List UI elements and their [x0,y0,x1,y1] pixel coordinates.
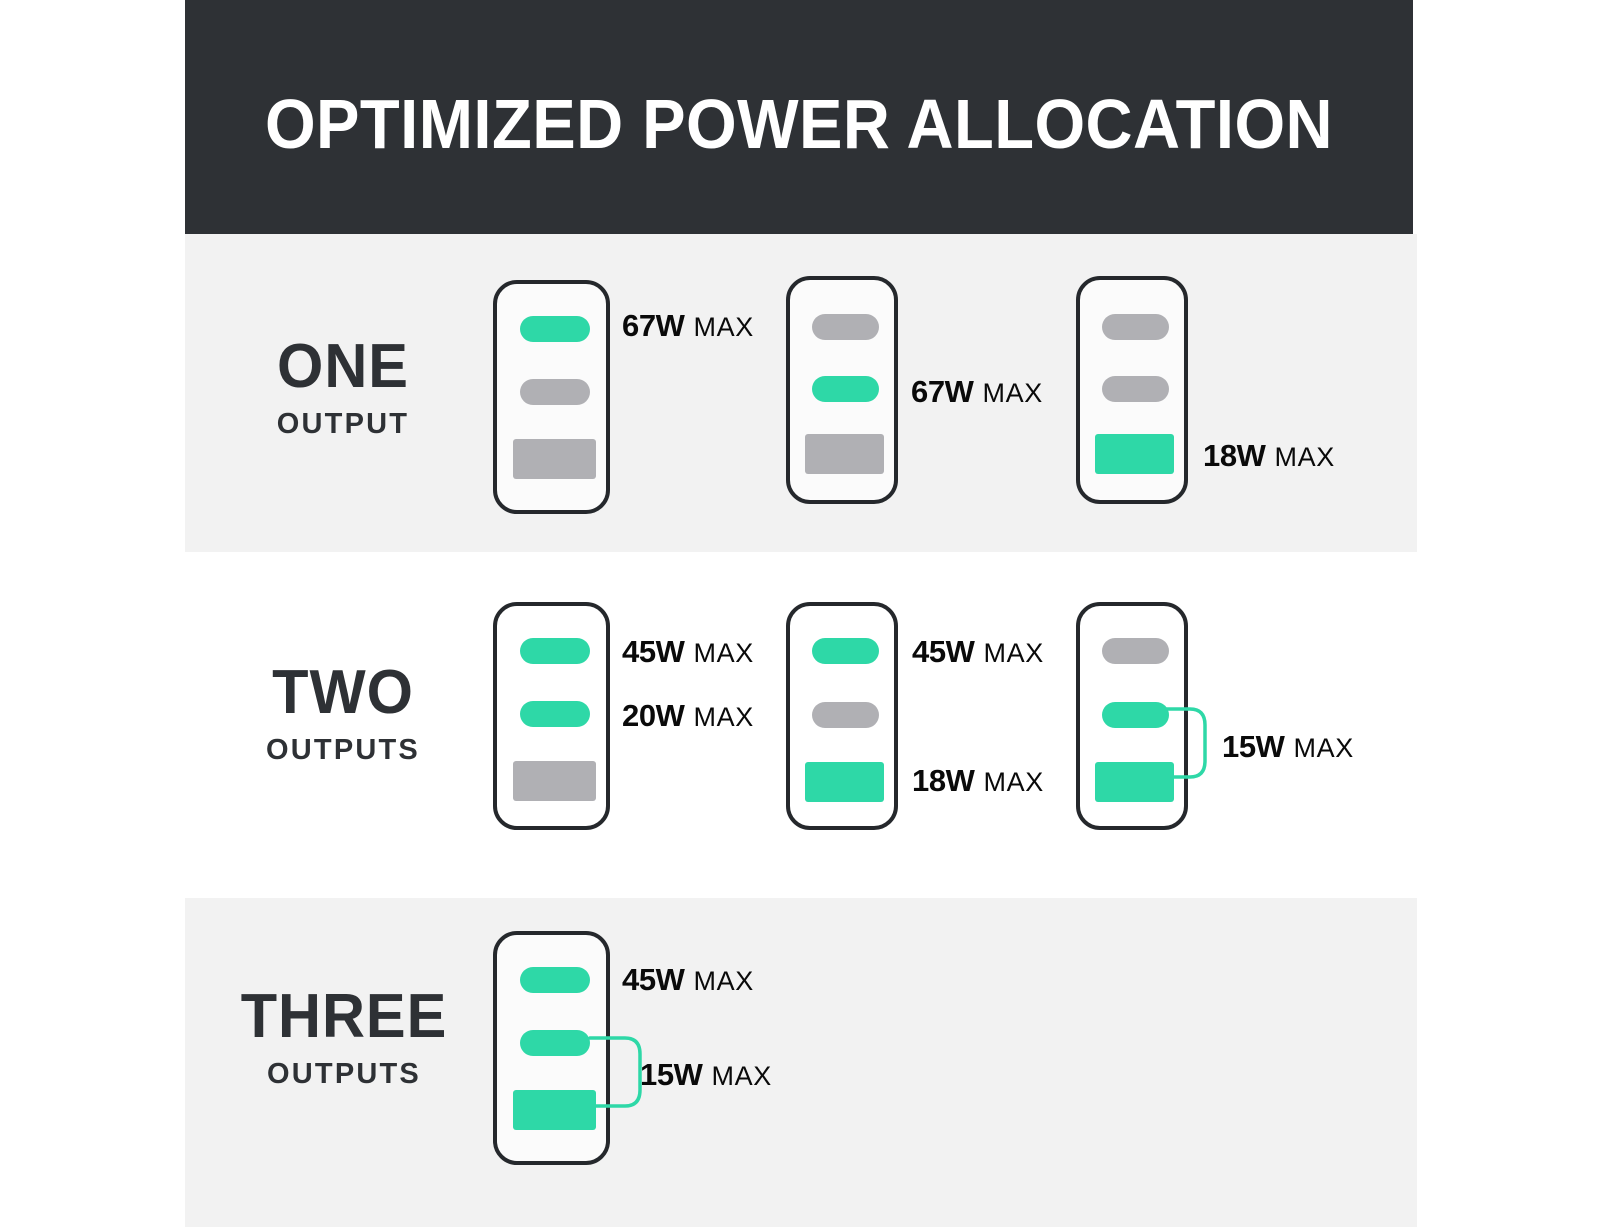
wattage-label-one-b: 67WMAX [911,376,1043,407]
charger-two-c[interactable] [1076,602,1188,830]
row-outputs-label: OUTPUT [228,407,458,441]
port-usb-c-2[interactable] [520,701,590,727]
port-usb-a-1[interactable] [1095,434,1174,474]
wattage-unit: MAX [1275,442,1335,472]
wattage-label-two-c: 15WMAX [1222,731,1354,762]
port-usb-c-2[interactable] [812,702,879,728]
wattage-unit: MAX [1294,733,1354,763]
wattage-label-two-a-2: 20WMAX [622,700,754,731]
port-usb-c-1[interactable] [520,638,590,664]
wattage-label-two-b-1: 45WMAX [912,636,1044,667]
wattage-value: 20W [622,698,685,733]
port-usb-a-1[interactable] [513,761,596,801]
port-usb-a-1[interactable] [1095,762,1174,802]
charger-one-a[interactable] [493,280,610,514]
wattage-unit: MAX [984,767,1044,797]
wattage-value: 67W [622,308,685,343]
wattage-value: 45W [622,962,685,997]
row-outputs-label: OUTPUTS [228,733,458,767]
port-usb-c-2[interactable] [520,379,590,405]
port-usb-c-2[interactable] [812,376,879,402]
row-count-label: THREE [223,986,465,1048]
charger-two-b[interactable] [786,602,898,830]
wattage-label-two-b-2: 18WMAX [912,765,1044,796]
wattage-value: 18W [1203,438,1266,473]
wattage-unit: MAX [694,638,754,668]
port-usb-a-1[interactable] [513,439,596,479]
row-count-label: TWO [233,662,454,724]
wattage-unit: MAX [983,378,1043,408]
port-usb-c-2[interactable] [1102,376,1169,402]
port-usb-c-1[interactable] [1102,314,1169,340]
port-usb-c-1[interactable] [812,314,879,340]
wattage-label-one-c: 18WMAX [1203,440,1335,471]
charger-two-a[interactable] [493,602,610,830]
port-usb-c-1[interactable] [812,638,879,664]
wattage-value: 18W [912,763,975,798]
row-label-two: TWO OUTPUTS [228,662,458,767]
charger-one-b[interactable] [786,276,898,504]
wattage-unit: MAX [984,638,1044,668]
port-usb-a-1[interactable] [513,1090,596,1130]
wattage-label-one-a: 67WMAX [622,310,754,341]
wattage-label-three-a-1: 45WMAX [622,964,754,995]
header-band: OPTIMIZED POWER ALLOCATION [185,0,1413,234]
row-outputs-label: OUTPUTS [218,1057,470,1091]
wattage-label-three-a-2: 15WMAX [640,1059,772,1090]
wattage-unit: MAX [694,312,754,342]
port-usb-c-1[interactable] [520,316,590,342]
wattage-value: 45W [622,634,685,669]
wattage-value: 45W [912,634,975,669]
wattage-value: 15W [640,1057,703,1092]
port-usb-c-2[interactable] [1102,702,1169,728]
port-usb-c-1[interactable] [1102,638,1169,664]
port-usb-c-2[interactable] [520,1030,590,1056]
wattage-unit: MAX [694,702,754,732]
row-label-three: THREE OUTPUTS [218,986,470,1091]
wattage-unit: MAX [694,966,754,996]
page-title: OPTIMIZED POWER ALLOCATION [228,0,1370,234]
port-usb-a-1[interactable] [805,762,884,802]
port-usb-a-1[interactable] [805,434,884,474]
infographic-page: OPTIMIZED POWER ALLOCATION ONE OUTPUT 67… [0,0,1600,1227]
wattage-value: 67W [911,374,974,409]
port-usb-c-1[interactable] [520,967,590,993]
charger-three-a[interactable] [493,931,610,1165]
charger-one-c[interactable] [1076,276,1188,504]
wattage-unit: MAX [712,1061,772,1091]
wattage-value: 15W [1222,729,1285,764]
wattage-label-two-a-1: 45WMAX [622,636,754,667]
row-count-label: ONE [233,336,454,398]
row-label-one: ONE OUTPUT [228,336,458,441]
